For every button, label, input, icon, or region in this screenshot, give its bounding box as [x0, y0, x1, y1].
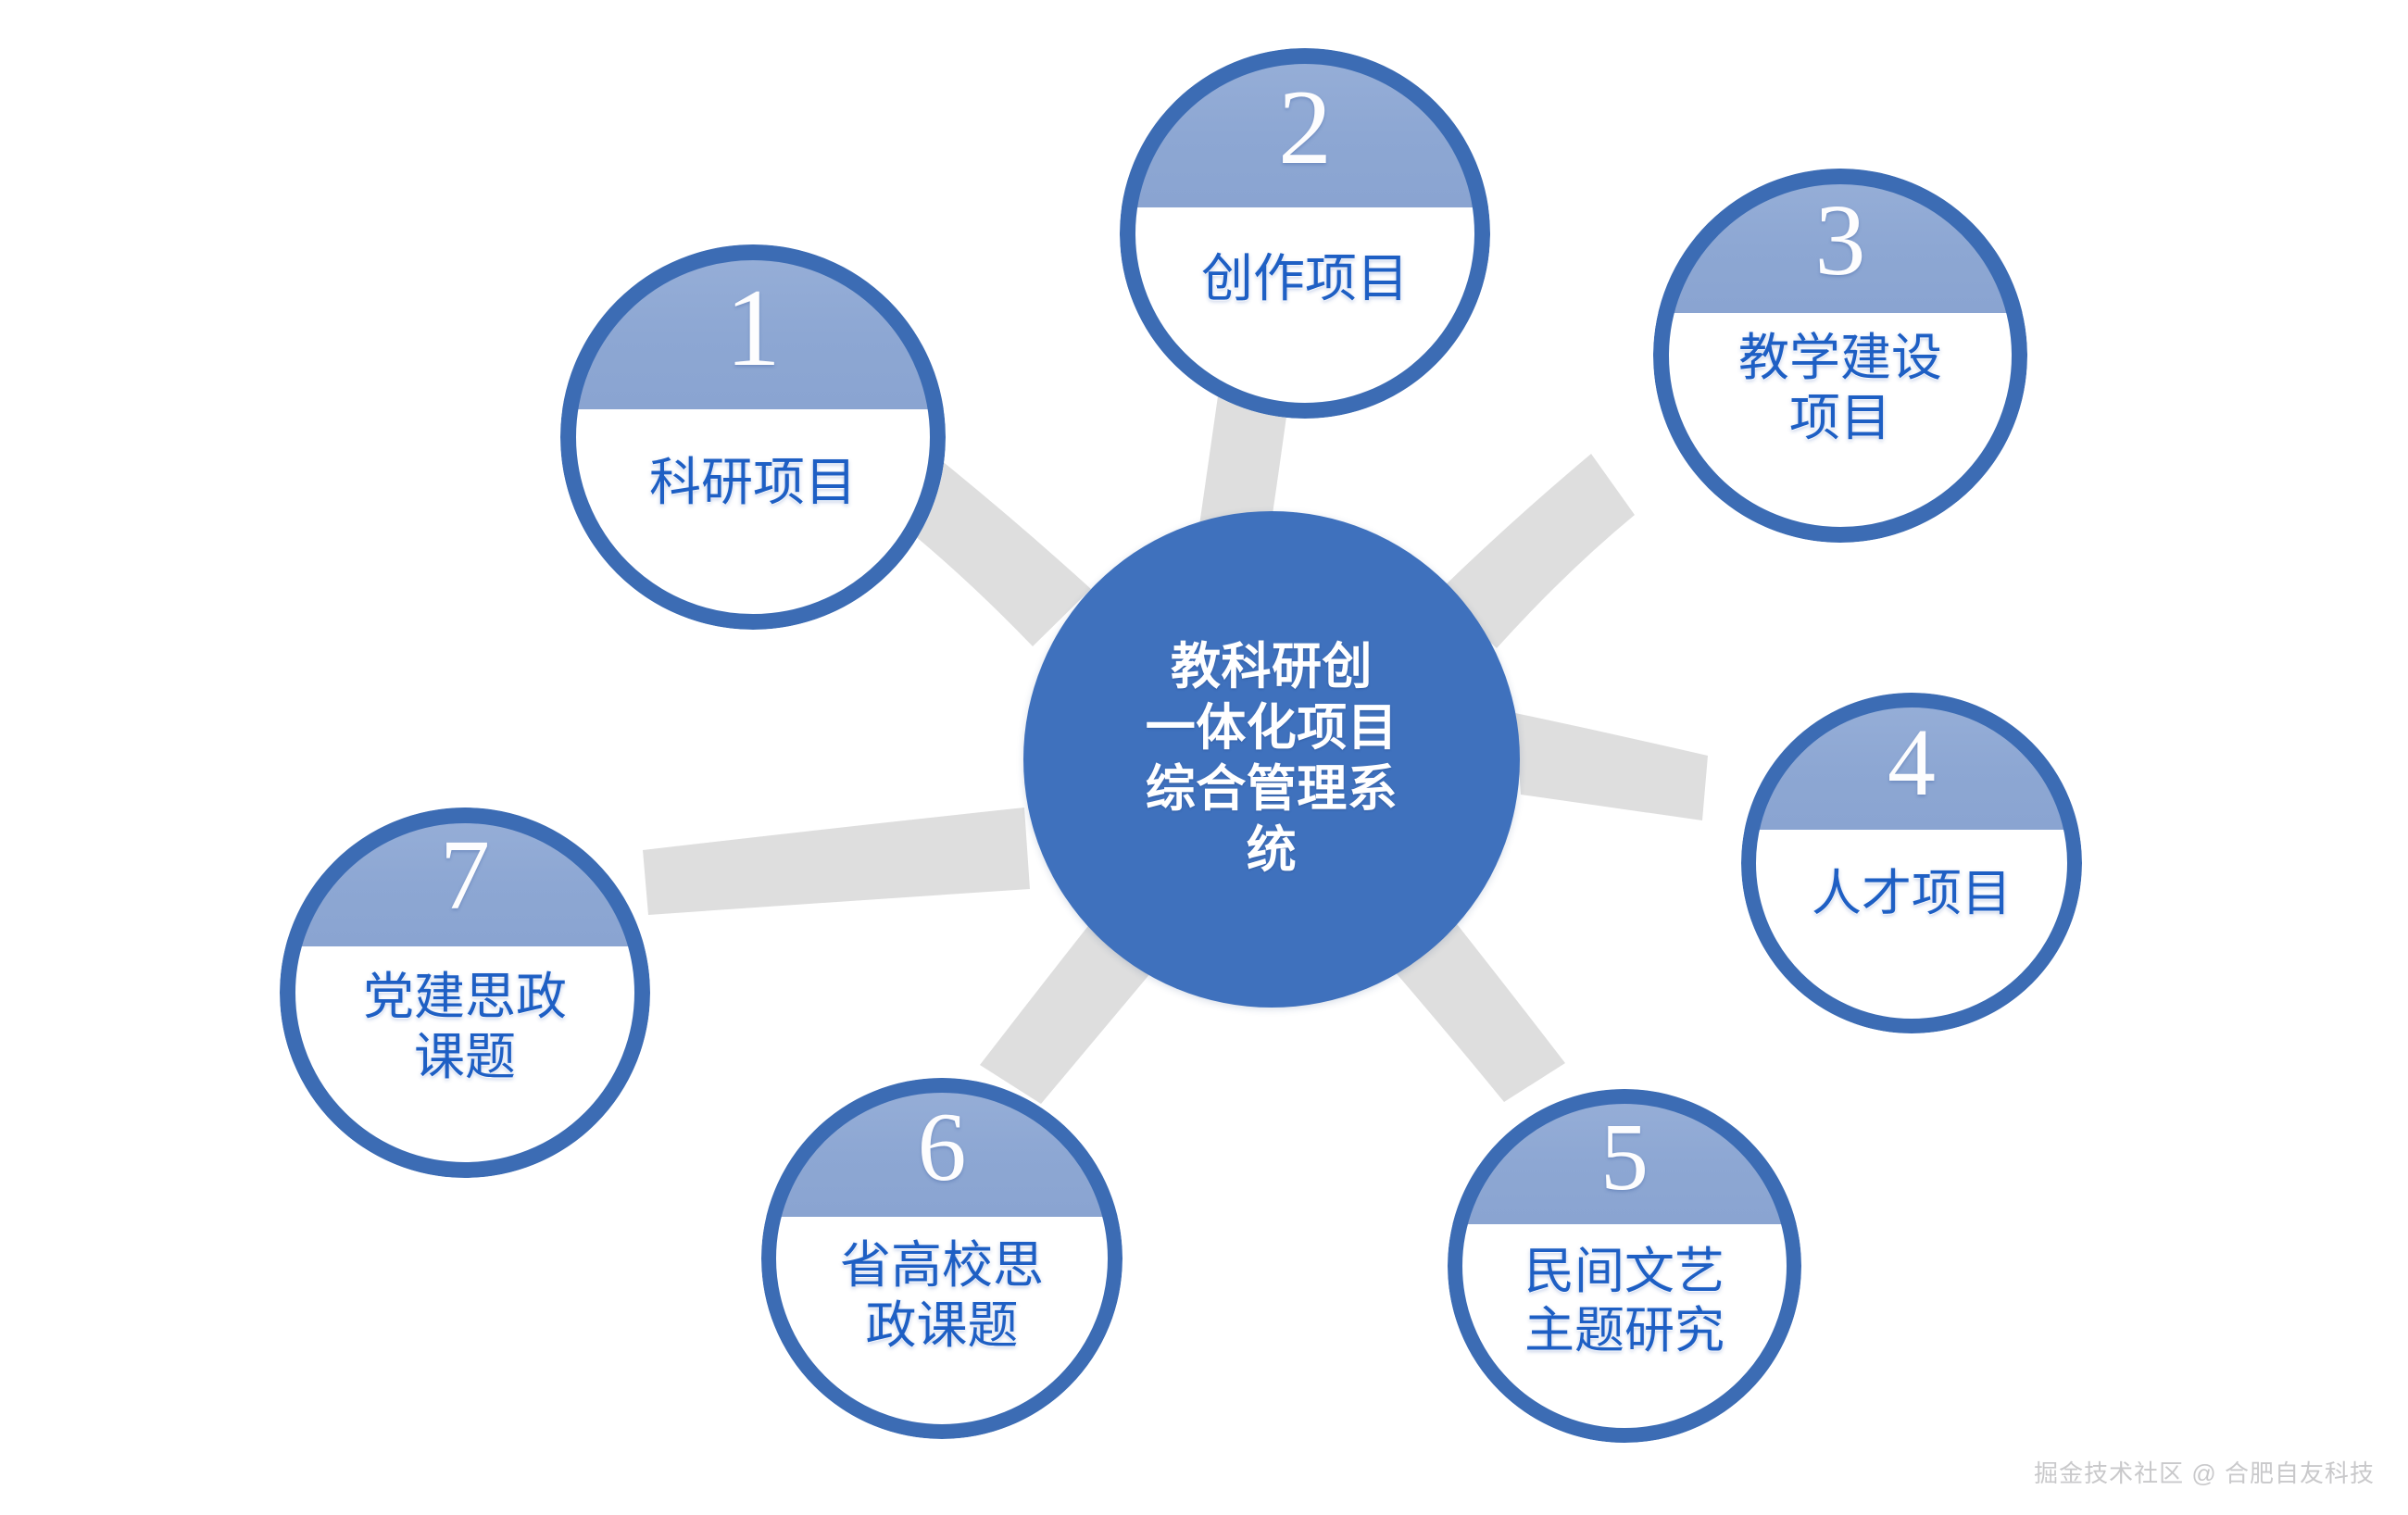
node-7-label: 党建思政 课题: [302, 967, 628, 1087]
node-7-number: 7: [280, 826, 650, 926]
node-6-省高校思政课题[interactable]: 6 省高校思 政课题: [761, 1078, 1122, 1439]
node-3-number: 3: [1653, 189, 2027, 291]
connector-hub-to-node-4: [1515, 713, 1708, 820]
node-1-label: 科研项目: [583, 452, 922, 513]
node-5-number: 5: [1448, 1109, 1801, 1206]
hub-label: 教科研创 一体化项目 综合管理系 统: [1146, 637, 1398, 882]
node-3-教学建设项目[interactable]: 3 教学建设 项目: [1653, 169, 2027, 543]
node-5-民间文艺主题研究[interactable]: 5 民间文艺 主题研究: [1448, 1089, 1801, 1443]
node-1-科研项目[interactable]: 1 科研项目: [560, 244, 946, 630]
node-7-党建思政课题[interactable]: 7 党建思政 课题: [280, 808, 650, 1178]
node-6-label: 省高校思 政课题: [783, 1235, 1100, 1356]
node-4-人才项目[interactable]: 4 人才项目: [1741, 693, 2082, 1033]
node-2-number: 2: [1120, 74, 1490, 182]
node-2-label: 创作项目: [1142, 248, 1468, 309]
connector-hub-to-node-7: [643, 808, 1030, 915]
node-4-label: 人才项目: [1762, 865, 2062, 924]
node-5-label: 民间文艺 主题研究: [1469, 1243, 1780, 1360]
watermark: 掘金技术社区 @ 合肥自友科技: [2034, 1455, 2375, 1489]
node-4-number: 4: [1741, 715, 2082, 811]
node-3-label: 教学建设 项目: [1675, 328, 2005, 448]
diagram-canvas: 1 科研项目 2 创作项目 3 教学建设 项目 4 人才项目 5 民间文: [0, 0, 2408, 1515]
node-6-number: 6: [761, 1098, 1122, 1196]
hub-node-central-system[interactable]: 教科研创 一体化项目 综合管理系 统: [1023, 511, 1520, 1008]
node-1-number: 1: [560, 272, 946, 383]
node-2-创作项目[interactable]: 2 创作项目: [1120, 48, 1490, 419]
